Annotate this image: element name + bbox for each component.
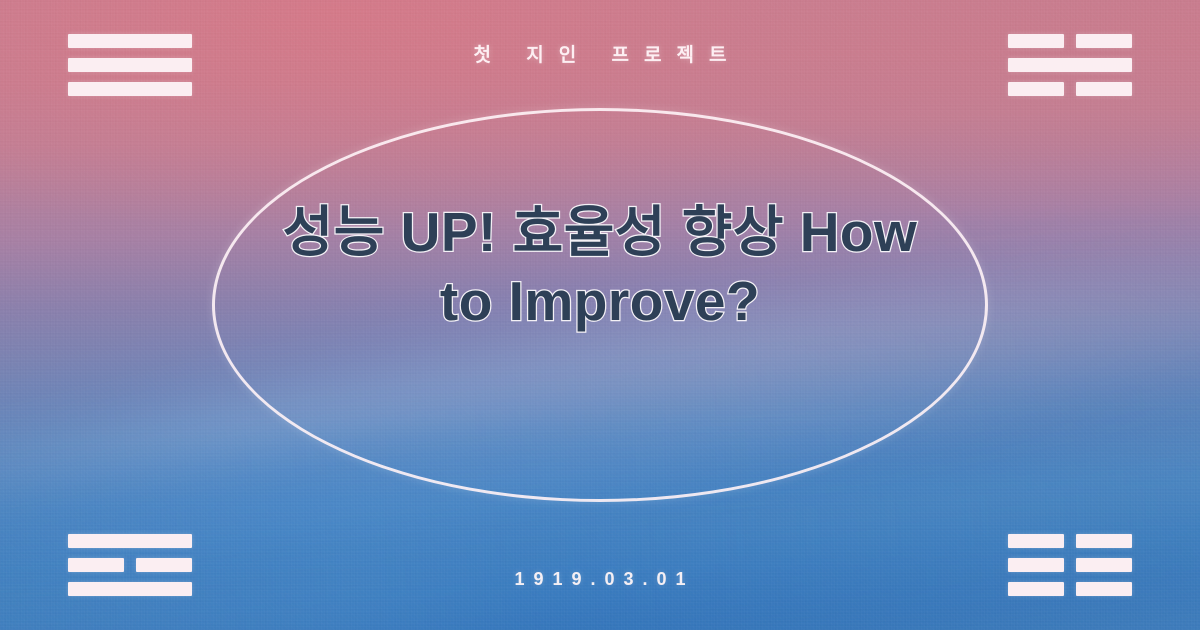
poster-title: 성능 UP! 효율성 향상 How to Improve?: [0, 198, 1200, 337]
poster-eyebrow: 첫 지인 프로젝트: [0, 40, 1200, 67]
trigram-bar: [68, 534, 192, 548]
trigram-bar: [1008, 82, 1064, 96]
trigram-bar: [1008, 534, 1064, 548]
trigram-bar: [1076, 82, 1132, 96]
poster-date-stamp: 1919.03.01: [0, 569, 1200, 590]
trigram-bar: [68, 82, 192, 96]
trigram-bar-row: [1008, 534, 1132, 548]
trigram-bar-row: [68, 534, 192, 548]
trigram-bar-row: [1008, 82, 1132, 96]
trigram-bar-row: [68, 82, 192, 96]
trigram-bar: [1076, 534, 1132, 548]
poster-canvas: 첫 지인 프로젝트 성능 UP! 효율성 향상 How to Improve? …: [0, 0, 1200, 630]
